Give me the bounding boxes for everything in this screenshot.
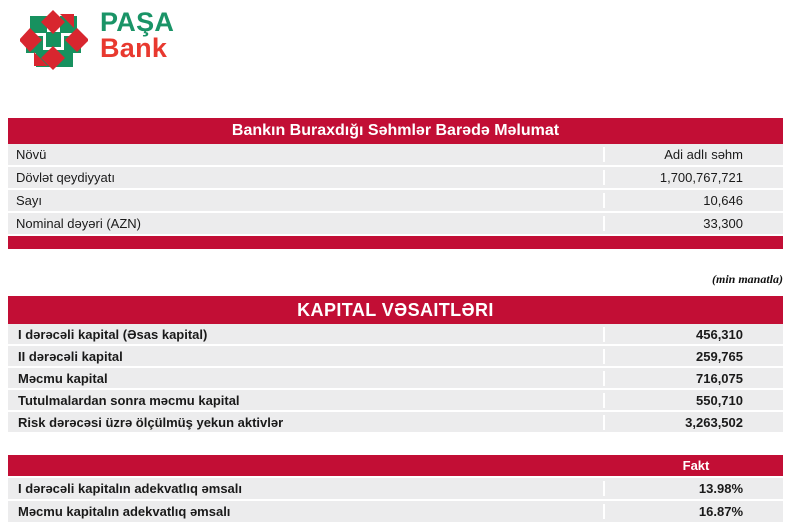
brand-logo: PAŞA Bank	[14, 4, 274, 76]
pasa-pinwheel-logo-icon	[20, 8, 88, 72]
shares-table-title: Bankın Buraxdığı Səhmlər Barədə Məlumat	[8, 118, 783, 144]
brand-name-line1: PAŞA	[100, 9, 174, 35]
row-label: Məcmu kapital	[8, 371, 605, 386]
row-label: Dövlət qeydiyyatı	[8, 170, 605, 185]
table-row: I dərəcəli kapital (Əsas kapital) 456,31…	[8, 324, 783, 346]
row-label: Tutulmalardan sonra məcmu kapital	[8, 393, 605, 408]
adequacy-ratio-table: Fakt I dərəcəli kapitalın adekvatlıq əms…	[8, 455, 783, 524]
row-label: Növü	[8, 147, 605, 162]
capital-funds-table: KAPITAL VƏSAITLƏRI I dərəcəli kapital (Ə…	[8, 296, 783, 434]
table-row: I dərəcəli kapitalın adekvatlıq əmsalı 1…	[8, 478, 783, 501]
row-label: I dərəcəli kapital (Əsas kapital)	[8, 327, 605, 342]
table-row: Məcmu kapitalın adekvatlıq əmsalı 16.87%	[8, 501, 783, 524]
brand-wordmark: PAŞA Bank	[100, 9, 174, 62]
row-value: 13.98%	[605, 481, 783, 496]
row-label: Məcmu kapitalın adekvatlıq əmsalı	[8, 504, 605, 519]
capital-table-title: KAPITAL VƏSAITLƏRI	[8, 296, 783, 324]
row-label: II dərəcəli kapital	[8, 349, 605, 364]
table-row: Risk dərəcəsi üzrə ölçülmüş yekun aktivl…	[8, 412, 783, 434]
row-value: 33,300	[605, 216, 783, 231]
unit-note: (min manatla)	[712, 272, 783, 287]
table-row: Sayı 10,646	[8, 190, 783, 213]
row-value: 1,700,767,721	[605, 170, 783, 185]
row-value: 550,710	[605, 393, 783, 408]
row-value: 10,646	[605, 193, 783, 208]
table-row: Növü Adi adlı səhm	[8, 144, 783, 167]
row-value: 716,075	[605, 371, 783, 386]
row-value: 259,765	[605, 349, 783, 364]
table-row: II dərəcəli kapital 259,765	[8, 346, 783, 368]
table-row: Nominal dəyəri (AZN) 33,300	[8, 213, 783, 236]
row-value: Adi adlı səhm	[605, 147, 783, 162]
row-value: 16.87%	[605, 504, 783, 519]
row-value: 456,310	[605, 327, 783, 342]
shares-info-table: Bankın Buraxdığı Səhmlər Barədə Məlumat …	[8, 118, 783, 249]
table-row: Məcmu kapital 716,075	[8, 368, 783, 390]
row-label: Risk dərəcəsi üzrə ölçülmüş yekun aktivl…	[8, 415, 605, 430]
shares-table-footer-bar	[8, 236, 783, 249]
row-label: Nominal dəyəri (AZN)	[8, 216, 605, 231]
brand-name-line2: Bank	[100, 35, 174, 61]
table-row: Dövlət qeydiyyatı 1,700,767,721	[8, 167, 783, 190]
row-label: Sayı	[8, 193, 605, 208]
ratio-header-value: Fakt	[627, 458, 783, 473]
row-label: I dərəcəli kapitalın adekvatlıq əmsalı	[8, 481, 605, 496]
table-row: Tutulmalardan sonra məcmu kapital 550,71…	[8, 390, 783, 412]
row-value: 3,263,502	[605, 415, 783, 430]
ratio-table-header: Fakt	[8, 455, 783, 478]
